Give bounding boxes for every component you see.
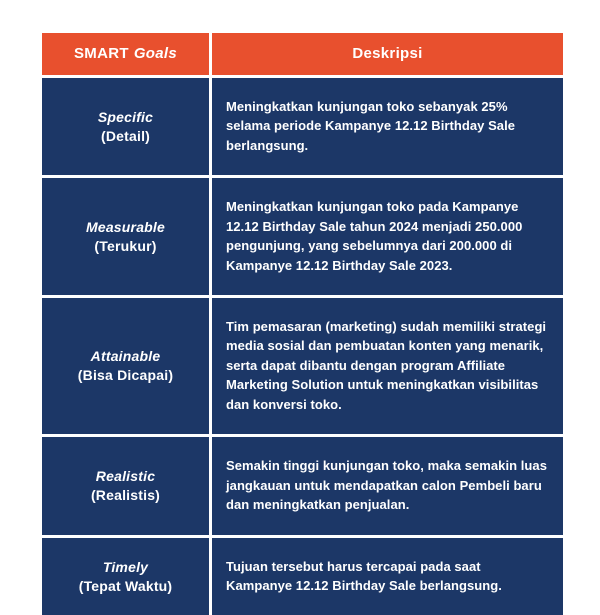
goal-cell-measurable: Measurable (Terukur)	[42, 178, 212, 298]
goal-cell-attainable: Attainable (Bisa Dicapai)	[42, 298, 212, 437]
column-header-smart-goals: SMARTGoals	[42, 33, 212, 78]
goal-cell-timely: Timely (Tepat Waktu)	[42, 538, 212, 615]
table-row: Realistic (Realistis) Semakin tinggi kun…	[42, 437, 563, 538]
goal-cell-realistic: Realistic (Realistis)	[42, 437, 212, 538]
column-header-description: Deskripsi	[212, 33, 563, 78]
table-row: Timely (Tepat Waktu) Tujuan tersebut har…	[42, 538, 563, 615]
description-cell-realistic: Semakin tinggi kunjungan toko, maka sema…	[212, 437, 563, 538]
smart-goals-table-container: SMARTGoals Deskripsi Specific (Detail) M…	[42, 33, 563, 615]
goal-subtitle-label: (Bisa Dicapai)	[50, 366, 201, 385]
goal-term-label: Timely	[50, 558, 201, 577]
column-header-smart-label: SMART	[74, 45, 129, 62]
table-header: SMARTGoals Deskripsi	[42, 33, 563, 78]
table-header-row: SMARTGoals Deskripsi	[42, 33, 563, 78]
description-cell-specific: Meningkatkan kunjungan toko sebanyak 25%…	[212, 78, 563, 178]
table-row: Measurable (Terukur) Meningkatkan kunjun…	[42, 178, 563, 298]
goal-term-label: Specific	[50, 108, 201, 127]
goal-subtitle-label: (Detail)	[50, 127, 201, 146]
goal-subtitle-label: (Terukur)	[50, 237, 201, 256]
goal-term-label: Attainable	[50, 347, 201, 366]
column-header-goals-label: Goals	[134, 45, 177, 62]
goal-cell-specific: Specific (Detail)	[42, 78, 212, 178]
smart-goals-table: SMARTGoals Deskripsi Specific (Detail) M…	[42, 33, 563, 615]
table-row: Specific (Detail) Meningkatkan kunjungan…	[42, 78, 563, 178]
goal-subtitle-label: (Tepat Waktu)	[50, 577, 201, 596]
goal-term-label: Realistic	[50, 467, 201, 486]
goal-term-label: Measurable	[50, 218, 201, 237]
table-row: Attainable (Bisa Dicapai) Tim pemasaran …	[42, 298, 563, 437]
table-body: Specific (Detail) Meningkatkan kunjungan…	[42, 78, 563, 615]
goal-subtitle-label: (Realistis)	[50, 486, 201, 505]
description-cell-timely: Tujuan tersebut harus tercapai pada saat…	[212, 538, 563, 615]
description-cell-attainable: Tim pemasaran (marketing) sudah memiliki…	[212, 298, 563, 437]
description-cell-measurable: Meningkatkan kunjungan toko pada Kampany…	[212, 178, 563, 298]
column-header-description-label: Deskripsi	[352, 45, 422, 62]
